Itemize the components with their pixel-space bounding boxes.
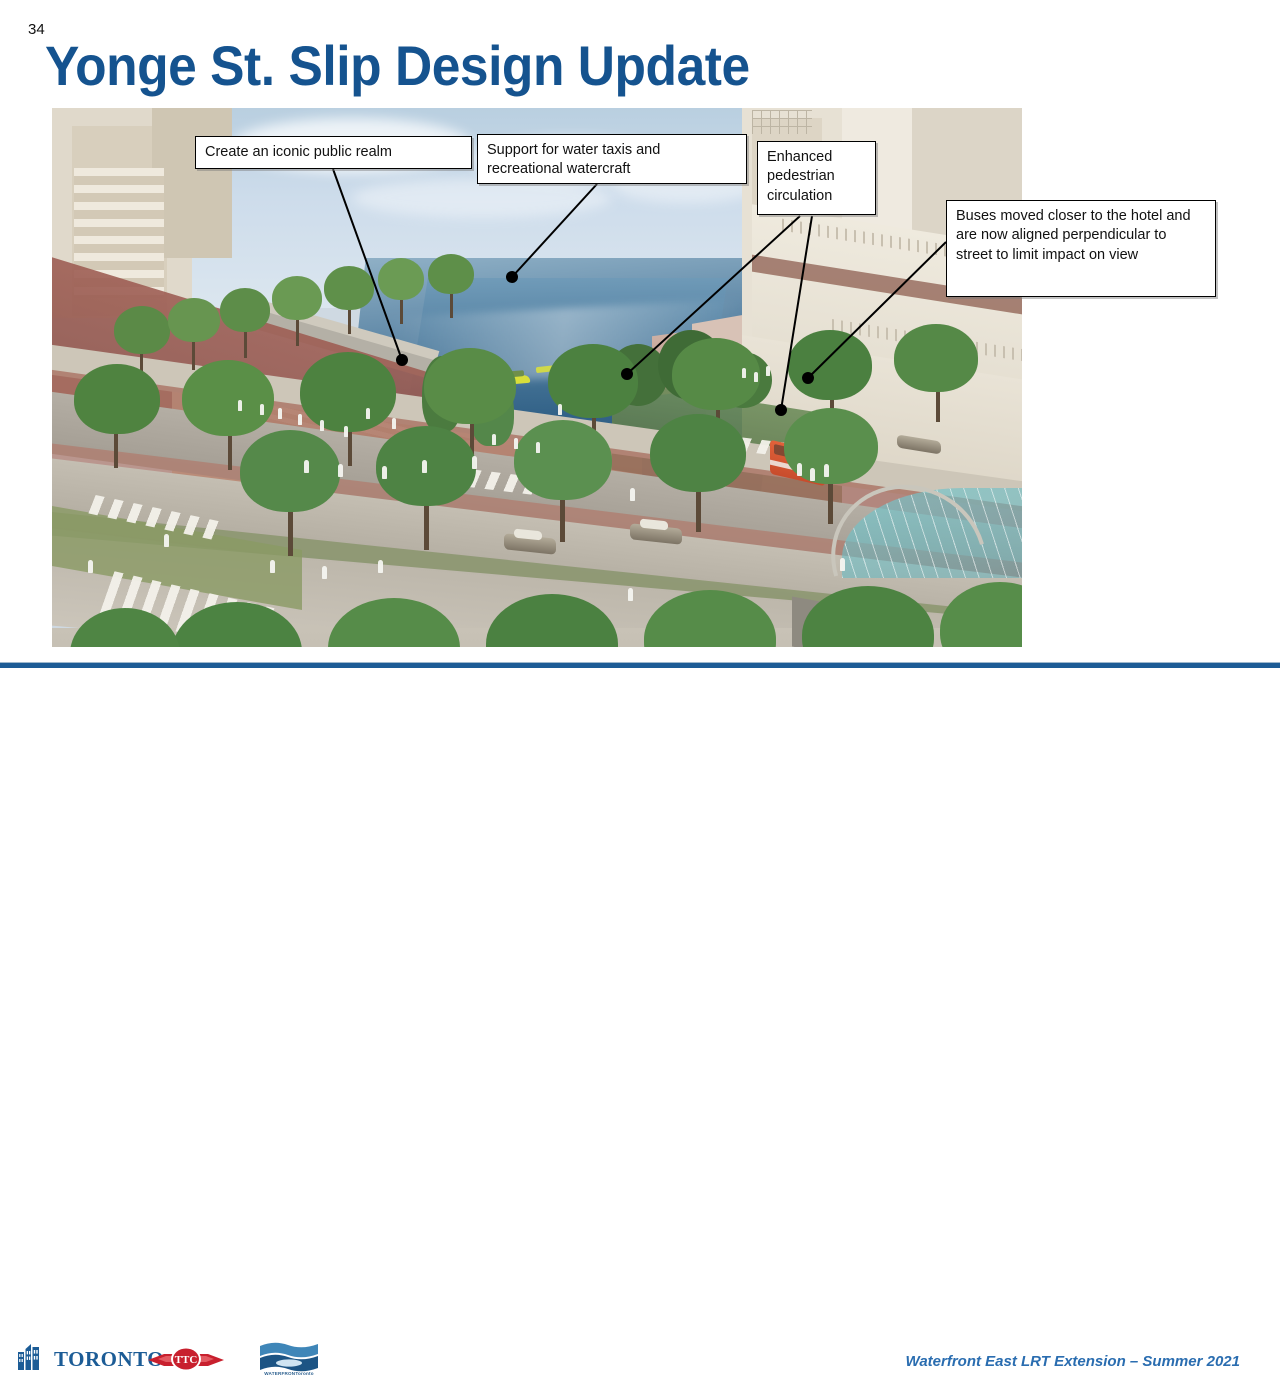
pedestrian xyxy=(810,468,815,481)
pedestrian xyxy=(298,414,302,425)
tree xyxy=(378,258,424,300)
page-title: Yonge St. Slip Design Update xyxy=(45,37,750,96)
waterfront-toronto-wordmark: WATERFRONToronto xyxy=(256,1371,322,1376)
tree xyxy=(424,348,516,424)
tree xyxy=(220,288,270,332)
pedestrian xyxy=(366,408,370,419)
design-rendering-image xyxy=(52,108,1022,647)
pedestrian xyxy=(840,558,845,571)
callout-pedestrian-circulation-text: Enhanced pedestrian circulation xyxy=(767,149,835,204)
city-of-toronto-logo: TORONTO xyxy=(18,1344,164,1370)
toronto-buildings-icon xyxy=(18,1344,50,1370)
tree xyxy=(650,414,746,492)
pedestrian xyxy=(558,404,562,415)
pedestrian xyxy=(742,368,746,378)
page-number: 34 xyxy=(28,22,45,37)
callout-buses[interactable]: Buses moved closer to the hotel and are … xyxy=(946,200,1216,297)
pedestrian xyxy=(382,466,387,479)
tree xyxy=(272,276,322,320)
pedestrian xyxy=(422,460,427,473)
ttc-wordmark: TTC xyxy=(175,1354,198,1366)
cloud xyxy=(352,178,612,218)
tree xyxy=(240,430,340,512)
pedestrian xyxy=(338,464,343,477)
pedestrian xyxy=(392,418,396,429)
tree xyxy=(114,306,170,354)
presentation-slide: 34 Yonge St. Slip Design Update xyxy=(0,0,1280,720)
callout-public-realm-text: Create an iconic public realm xyxy=(205,143,392,162)
building-left-rear xyxy=(152,108,232,258)
tree xyxy=(672,338,760,410)
tree xyxy=(514,420,612,500)
pedestrian xyxy=(320,420,324,431)
pedestrian xyxy=(754,372,758,382)
pedestrian xyxy=(514,438,518,449)
pedestrian xyxy=(824,464,829,477)
pedestrian xyxy=(304,460,309,473)
tree xyxy=(300,352,396,432)
tree xyxy=(182,360,274,436)
pedestrian xyxy=(88,560,93,573)
pedestrian xyxy=(238,400,242,411)
pedestrian xyxy=(472,456,477,469)
tree xyxy=(428,254,474,294)
pedestrian xyxy=(278,408,282,419)
callout-pedestrian-circulation[interactable]: Enhanced pedestrian circulation xyxy=(757,141,876,215)
tree xyxy=(894,324,978,392)
pedestrian xyxy=(344,426,348,437)
callout-water-taxis[interactable]: Support for water taxis and recreational… xyxy=(477,134,747,184)
pedestrian xyxy=(322,566,327,579)
pedestrian xyxy=(536,442,540,453)
ttc-logo: TTC xyxy=(148,1346,224,1372)
pedestrian xyxy=(260,404,264,415)
pedestrian xyxy=(797,463,802,476)
pedestrian xyxy=(378,560,383,573)
tree xyxy=(788,330,872,400)
pedestrian xyxy=(492,434,496,445)
pedestrian xyxy=(164,534,169,547)
pedestrian xyxy=(270,560,275,573)
pedestrian xyxy=(630,488,635,501)
building-window-grid xyxy=(752,110,812,134)
callout-public-realm[interactable]: Create an iconic public realm xyxy=(195,136,472,169)
pedestrian xyxy=(628,588,633,601)
callout-water-taxis-text: Support for water taxis and recreational… xyxy=(487,142,660,177)
footer-note: Waterfront East LRT Extension – Summer 2… xyxy=(905,1353,1240,1370)
tree xyxy=(74,364,160,434)
tree xyxy=(324,266,374,310)
slide-footer: TORONTO TTC WATERFRONToronto Waterfront … xyxy=(0,668,1280,720)
pedestrian xyxy=(766,366,770,376)
callout-buses-text: Buses moved closer to the hotel and are … xyxy=(956,208,1191,263)
tree xyxy=(168,298,220,342)
